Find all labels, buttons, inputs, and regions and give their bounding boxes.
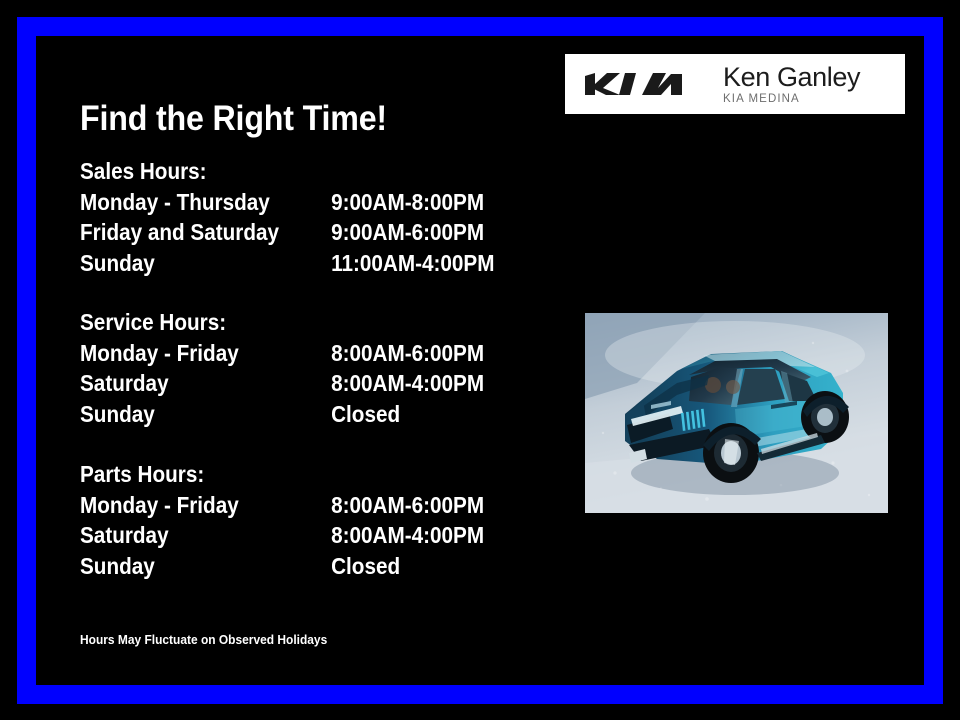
hours-block-parts: Parts Hours: Monday - Friday 8:00AM-6:00… bbox=[80, 459, 484, 581]
hours-day-label: Sunday bbox=[80, 551, 331, 582]
hours-row: Saturday 8:00AM-4:00PM bbox=[80, 520, 484, 551]
kia-ev9-suv-photo bbox=[585, 313, 888, 513]
hours-time-value: 8:00AM-4:00PM bbox=[331, 368, 484, 399]
hours-row: Sunday Closed bbox=[80, 399, 484, 430]
hours-row: Friday and Saturday 9:00AM-6:00PM bbox=[80, 217, 494, 248]
hours-row: Sunday Closed bbox=[80, 551, 484, 582]
hours-day-label: Saturday bbox=[80, 520, 331, 551]
hours-time-value: 8:00AM-6:00PM bbox=[331, 490, 484, 521]
hours-day-label: Saturday bbox=[80, 368, 331, 399]
dealer-name-lockup: Ken Ganley KIA MEDINA bbox=[723, 63, 860, 106]
hours-day-label: Sunday bbox=[80, 399, 331, 430]
holiday-disclaimer: Hours May Fluctuate on Observed Holidays bbox=[80, 632, 327, 647]
hours-time-value: Closed bbox=[331, 551, 400, 582]
hours-block-sales: Sales Hours: Monday - Thursday 9:00AM-8:… bbox=[80, 156, 494, 278]
hours-day-label: Monday - Thursday bbox=[80, 187, 331, 218]
slide-canvas: Find the Right Time! Sales Hours: Monday… bbox=[0, 0, 960, 720]
hours-time-value: 11:00AM-4:00PM bbox=[331, 248, 494, 279]
hours-day-label: Monday - Friday bbox=[80, 490, 331, 521]
hours-heading-service: Service Hours: bbox=[80, 307, 484, 338]
hours-time-value: 8:00AM-4:00PM bbox=[331, 520, 484, 551]
hours-row: Monday - Friday 8:00AM-6:00PM bbox=[80, 338, 484, 369]
hours-row: Monday - Friday 8:00AM-6:00PM bbox=[80, 490, 484, 521]
dealer-subtitle: KIA MEDINA bbox=[723, 92, 860, 106]
hours-heading-parts: Parts Hours: bbox=[80, 459, 484, 490]
hours-row: Monday - Thursday 9:00AM-8:00PM bbox=[80, 187, 494, 218]
hours-time-value: 9:00AM-6:00PM bbox=[331, 217, 484, 248]
page-title: Find the Right Time! bbox=[80, 99, 387, 139]
hours-row: Sunday 11:00AM-4:00PM bbox=[80, 248, 494, 279]
hours-time-value: 8:00AM-6:00PM bbox=[331, 338, 484, 369]
hours-block-service: Service Hours: Monday - Friday 8:00AM-6:… bbox=[80, 307, 484, 429]
hours-row: Saturday 8:00AM-4:00PM bbox=[80, 368, 484, 399]
hours-day-label: Monday - Friday bbox=[80, 338, 331, 369]
hours-time-value: 9:00AM-8:00PM bbox=[331, 187, 484, 218]
slide-content-panel: Find the Right Time! Sales Hours: Monday… bbox=[36, 36, 924, 685]
dealer-name: Ken Ganley bbox=[723, 63, 860, 92]
hours-day-label: Sunday bbox=[80, 248, 331, 279]
hours-heading-sales: Sales Hours: bbox=[80, 156, 494, 187]
hours-time-value: Closed bbox=[331, 399, 400, 430]
kia-logo-icon bbox=[583, 69, 701, 99]
dealer-logo-panel: Ken Ganley KIA MEDINA bbox=[565, 54, 905, 114]
hours-day-label: Friday and Saturday bbox=[80, 217, 331, 248]
